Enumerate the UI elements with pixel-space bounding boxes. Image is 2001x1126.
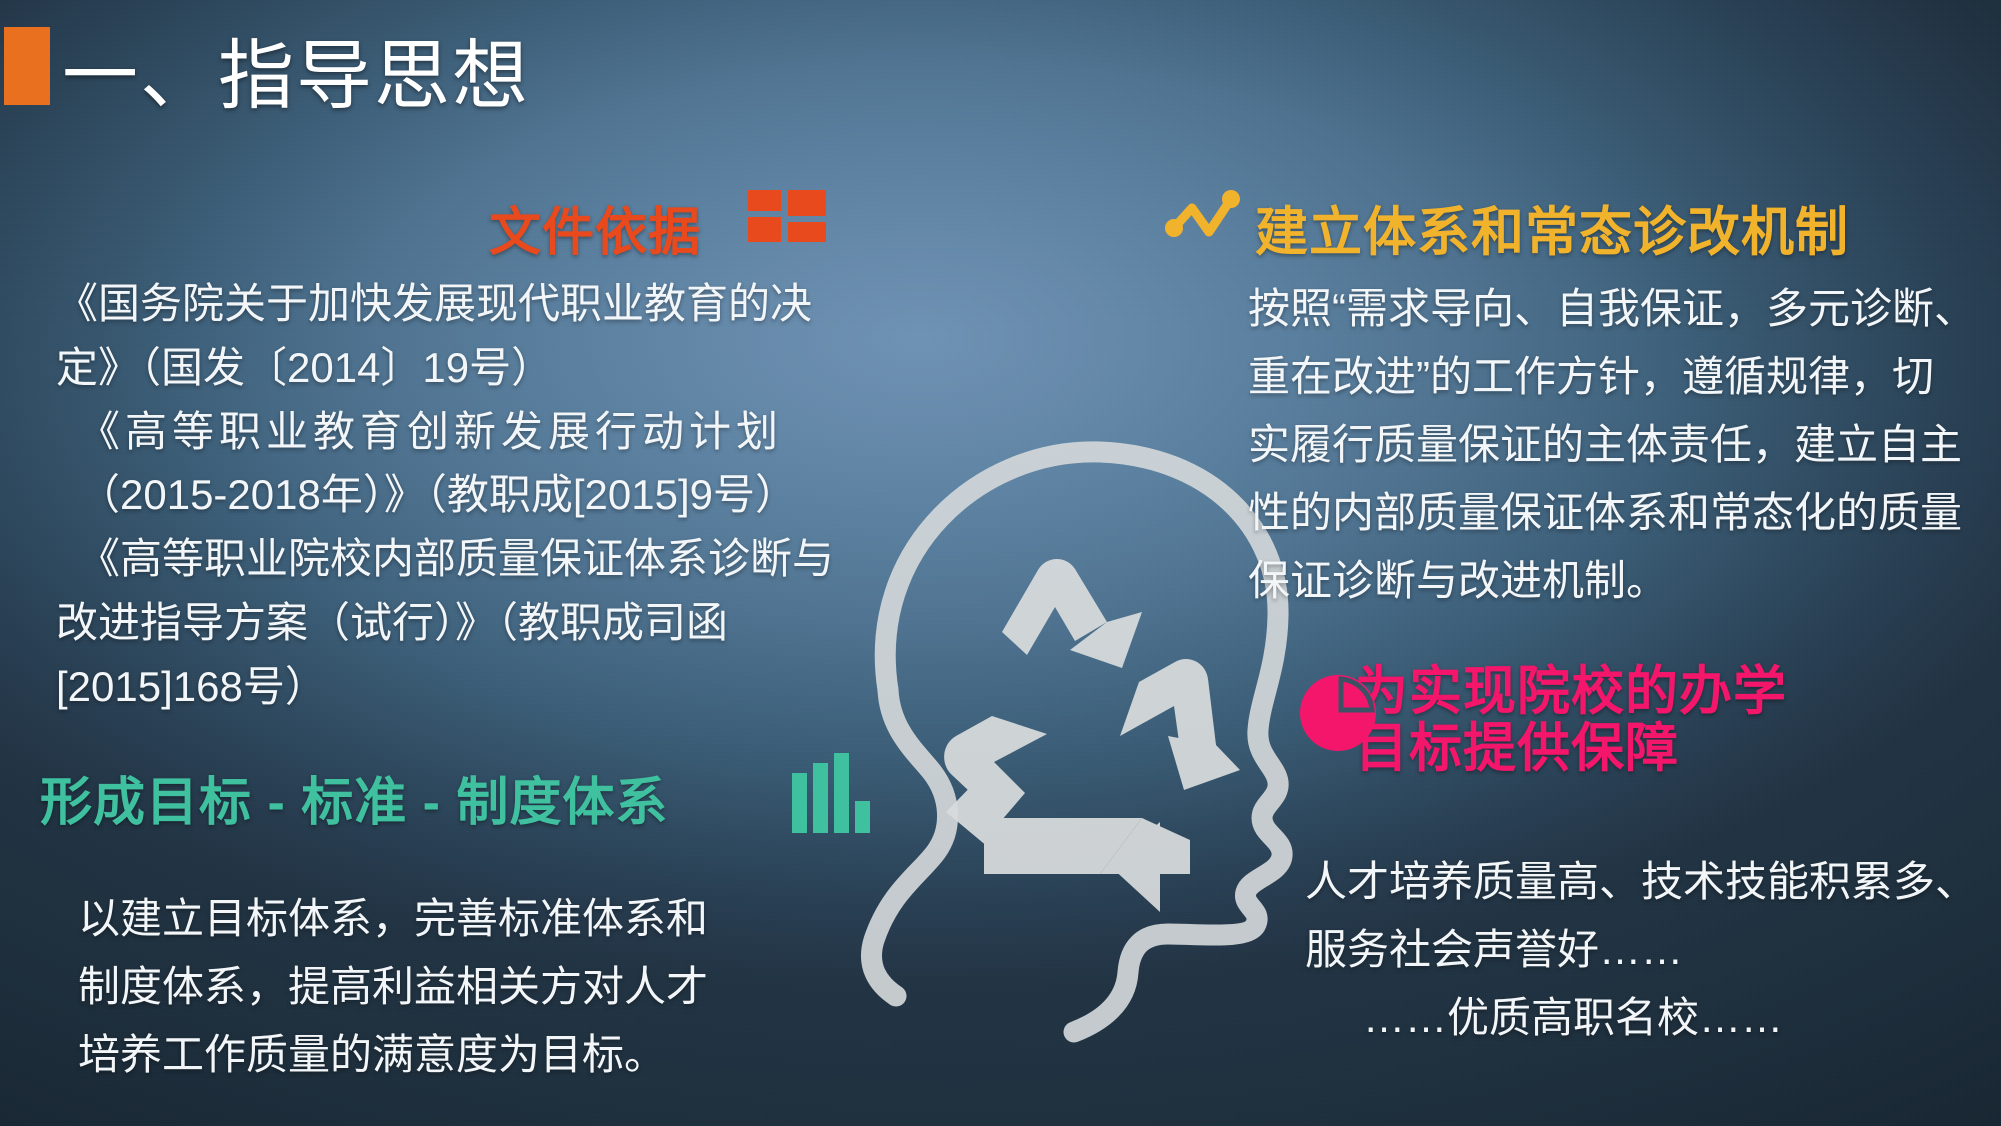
heading-guarantee-line-1: 为实现院校的办学 [1355,662,1787,721]
heading-mechanism: 建立体系和常态诊改机制 [1255,190,1849,266]
files-paragraph: 《国务院关于加快发展现代职业教育的决 定》（国发〔2014〕19号） 《高等职业… [56,272,856,719]
goal-line-1: 以建立目标体系，完善标准体系和 [78,885,838,953]
files-line-3: 《高等职业教育创新发展行动计划 [56,400,856,464]
files-line-7: [2015]168号） [56,655,856,719]
guarantee-line-2: 服务社会声誉好…… [1305,916,2001,984]
heading-goal-system: 形成目标 - 标准 - 制度体系 [40,760,668,835]
files-line-4: （2015-2018年）》（教职成[2015]9号） [56,463,856,527]
mechanism-line-3: 实履行质量保证的主体责任，建立自主 [1248,411,2001,479]
title-accent-bar [4,27,50,105]
line-chart-icon [1165,188,1241,244]
heading-guarantee: 为实现院校的办学 目标提供保障 [1355,663,1995,777]
mechanism-line-2: 重在改进”的工作方针，遵循规律，切 [1248,343,2001,411]
goal-line-2: 制度体系，提高利益相关方对人才 [78,953,838,1021]
files-line-1: 《国务院关于加快发展现代职业教育的决 [56,272,856,336]
guarantee-line-3: ……优质高职名校…… [1305,984,2001,1052]
pie-chart-icon [1300,673,1380,753]
heading-guarantee-line-2: 目标提供保障 [1355,719,1679,778]
mechanism-line-5: 保证诊断与改进机制。 [1248,547,2001,615]
goal-system-paragraph: 以建立目标体系，完善标准体系和 制度体系，提高利益相关方对人才 培养工作质量的满… [78,885,838,1089]
goal-line-3: 培养工作质量的满意度为目标。 [78,1021,838,1089]
mechanism-paragraph: 按照“需求导向、自我保证，多元诊断、 重在改进”的工作方针，遵循规律，切 实履行… [1248,275,2001,615]
mechanism-line-1: 按照“需求导向、自我保证，多元诊断、 [1248,275,2001,343]
slide-canvas: 一、指导思想 [0,0,2001,1126]
page-title: 一、指导思想 [62,14,530,124]
files-line-2: 定》（国发〔2014〕19号） [56,336,856,400]
guarantee-paragraph: 人才培养质量高、技术技能积累多、 服务社会声誉好…… ……优质高职名校…… [1305,848,2001,1052]
heading-files: 文件依据 [489,190,701,265]
windows-grid-icon [748,190,826,242]
bar-chart-icon [790,747,872,833]
guarantee-line-1: 人才培养质量高、技术技能积累多、 [1305,848,2001,916]
files-line-6: 改进指导方案（试行）》（教职成司函 [56,591,856,655]
mechanism-line-4: 性的内部质量保证体系和常态化的质量 [1248,479,2001,547]
files-line-5: 《高等职业院校内部质量保证体系诊断与 [56,527,856,591]
